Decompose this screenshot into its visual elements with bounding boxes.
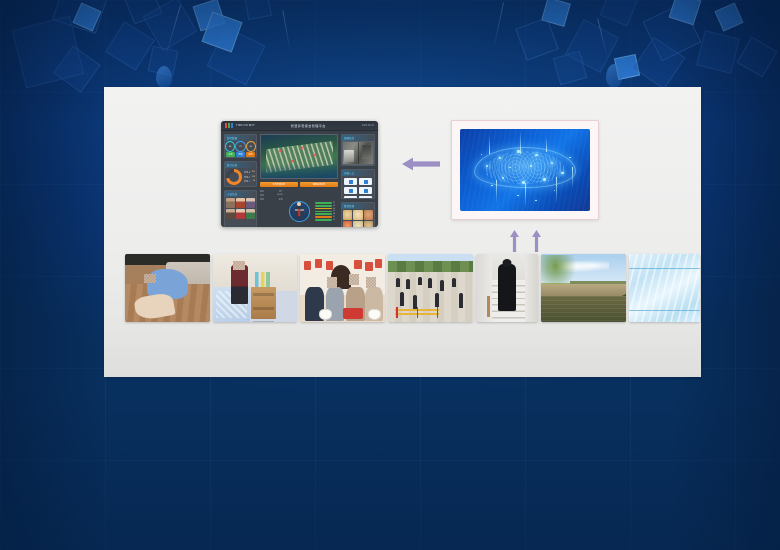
meal-thumbnail-grid bbox=[342, 209, 374, 227]
kpi-card[interactable]: 实时数据 86 72 45 在线 预警 处理 bbox=[224, 134, 257, 158]
metric-value: 64 bbox=[333, 208, 338, 210]
photo-man-on-stairs[interactable] bbox=[476, 254, 539, 322]
donut-legend: 类型 A 352 类型 B 128 类型 C 96 bbox=[244, 171, 255, 182]
person-thumbnail[interactable] bbox=[246, 198, 255, 208]
meal-thumbnail[interactable] bbox=[343, 210, 352, 220]
privacy-mosaic bbox=[233, 261, 245, 271]
profile-value: A-203 bbox=[277, 194, 282, 197]
photo-pedestrian bbox=[428, 278, 432, 288]
profile-row: 姓名 张** bbox=[260, 190, 283, 193]
photo-elderly-in-bedroom[interactable] bbox=[213, 254, 298, 322]
brain-node bbox=[535, 154, 537, 156]
status-chip[interactable]: 预警 bbox=[236, 152, 245, 157]
photo-man-figure bbox=[498, 264, 516, 312]
profile-label: 床位 bbox=[260, 194, 264, 197]
photo-pedestrian bbox=[440, 280, 444, 291]
quick-action-grid bbox=[342, 176, 374, 199]
dashboard-left-column: 实时数据 86 72 45 在线 预警 处理 统计分析 bbox=[224, 134, 257, 227]
settings-icon[interactable] bbox=[359, 196, 372, 199]
avatar[interactable] bbox=[289, 201, 310, 222]
photo-barrier-pole bbox=[417, 307, 419, 318]
photo-wall-poster bbox=[304, 261, 312, 270]
legend-label: 类型 A bbox=[244, 171, 250, 174]
photo-pedestrian bbox=[452, 278, 456, 287]
heart-icon[interactable] bbox=[344, 196, 357, 199]
person-thumbnail[interactable] bbox=[226, 209, 235, 219]
brain-beam bbox=[520, 132, 521, 153]
camera-feed[interactable] bbox=[342, 141, 374, 165]
people-thumbnail-grid bbox=[225, 197, 256, 220]
gauge[interactable]: 45 bbox=[246, 141, 256, 152]
user-icon[interactable] bbox=[344, 178, 357, 185]
meal-thumbnail[interactable] bbox=[353, 221, 362, 227]
privacy-mosaic bbox=[349, 274, 359, 285]
legend-row: 类型 B 128 bbox=[244, 176, 255, 179]
content-panel: TIKD CN WJY 智慧养老综合管理平台 2023-08-16 实时数据 8… bbox=[104, 87, 701, 377]
campus-3d-map[interactable] bbox=[260, 134, 338, 179]
donut-chart[interactable] bbox=[226, 169, 242, 185]
dashboard-title: 智慧养老综合管理平台 bbox=[258, 123, 359, 128]
meal-thumbnail[interactable] bbox=[343, 221, 352, 227]
profile-value: 张** bbox=[279, 190, 283, 193]
status-chip-row: 在线 预警 处理 bbox=[225, 152, 256, 158]
privacy-mosaic bbox=[327, 277, 337, 288]
map-pin[interactable] bbox=[279, 150, 281, 152]
meal-thumbnail[interactable] bbox=[353, 210, 362, 220]
photo-group-activity[interactable] bbox=[300, 254, 385, 322]
photo-person bbox=[231, 265, 248, 304]
profile-avatar-wrap bbox=[285, 190, 314, 227]
profile-row: 状态 正常 bbox=[260, 198, 283, 201]
brain-node bbox=[535, 200, 537, 202]
metric-bar: 88 bbox=[315, 213, 338, 215]
dashboard-body: 实时数据 86 72 45 在线 预警 处理 统计分析 bbox=[221, 131, 378, 227]
photo-wall-poster bbox=[354, 260, 362, 269]
person-thumbnail[interactable] bbox=[236, 198, 245, 208]
map-pin[interactable] bbox=[291, 160, 293, 162]
brain-beam bbox=[572, 167, 573, 188]
alert-bar[interactable]: 健康监测信息 bbox=[300, 182, 338, 187]
metric-bar-list: 92 78 64 51 88 35 70 bbox=[315, 190, 338, 227]
photo-pedestrian bbox=[435, 293, 439, 307]
legend-label: 类型 B bbox=[244, 176, 250, 179]
metric-value: 88 bbox=[333, 213, 338, 215]
photo-wall-right bbox=[525, 254, 539, 322]
person-thumbnail[interactable] bbox=[236, 209, 245, 219]
privacy-mosaic bbox=[366, 277, 376, 288]
status-chip[interactable]: 在线 bbox=[226, 152, 235, 157]
photo-wall-poster bbox=[315, 259, 323, 268]
photo-wall-poster bbox=[365, 262, 373, 271]
metric-bar: 35 bbox=[315, 216, 338, 218]
legend-value: 352 bbox=[252, 171, 255, 174]
brain-node bbox=[543, 178, 545, 180]
bell-icon[interactable] bbox=[344, 187, 357, 194]
meal-thumbnail[interactable] bbox=[364, 221, 373, 227]
photo-barrier-pole bbox=[437, 307, 439, 318]
legend-row: 类型 C 96 bbox=[244, 180, 255, 183]
person-thumbnail[interactable] bbox=[246, 209, 255, 219]
metric-bar: 64 bbox=[315, 208, 338, 210]
up-arrow-2 bbox=[532, 230, 541, 252]
brain-beam bbox=[556, 177, 557, 205]
photo-barrier-pole bbox=[396, 307, 398, 318]
legend-value: 128 bbox=[252, 176, 255, 179]
map-pin[interactable] bbox=[301, 147, 303, 149]
profile-row: 床位 A-203 bbox=[260, 194, 283, 197]
donut-row: 类型 A 352 类型 B 128 类型 C 96 bbox=[225, 168, 256, 186]
quick-actions-card[interactable]: 功能入口 bbox=[341, 169, 375, 199]
ai-brain-graphic bbox=[460, 129, 590, 211]
photo-pedestrian bbox=[396, 278, 400, 287]
dashboard-header: TIKD CN WJY 智慧养老综合管理平台 2023-08-16 bbox=[221, 121, 378, 131]
brain-beam bbox=[525, 183, 526, 208]
camera-card[interactable]: 视频监控 bbox=[341, 134, 375, 166]
person-thumbnail[interactable] bbox=[226, 198, 235, 208]
photo-horizontal-line bbox=[629, 310, 700, 312]
dashboard-middle-column: 实时告警信息 健康监测信息 姓名 张** 床位 A-203 bbox=[260, 134, 338, 227]
metric-bar: 92 bbox=[315, 202, 338, 204]
photo-pedestrian bbox=[400, 292, 404, 306]
profile-label: 姓名 bbox=[260, 190, 264, 193]
privacy-mosaic bbox=[144, 274, 157, 283]
photo-horizontal-line bbox=[629, 268, 700, 270]
photo-pedestrian bbox=[406, 279, 410, 289]
person-figure-icon bbox=[295, 206, 304, 219]
legend-row: 类型 A 352 bbox=[244, 171, 255, 174]
photo-caregiver-assisting-elderly[interactable] bbox=[125, 254, 210, 322]
profile-value: 正常 bbox=[279, 198, 283, 201]
profile-detail-list: 姓名 张** 床位 A-203 状态 正常 bbox=[260, 190, 283, 227]
brain-beam bbox=[496, 180, 497, 203]
brain-node bbox=[530, 165, 532, 167]
meal-card[interactable]: 餐饮管理 bbox=[341, 202, 375, 227]
people-card[interactable]: 人员信息 bbox=[224, 190, 257, 227]
brain-node bbox=[502, 177, 504, 179]
metric-value: 92 bbox=[333, 202, 338, 204]
metric-bar: 78 bbox=[315, 205, 338, 207]
brain-node bbox=[517, 195, 519, 197]
dashboard-date: 2023-08-16 bbox=[362, 124, 374, 127]
photo-pedestrian bbox=[459, 293, 463, 308]
profile-section: 姓名 张** 床位 A-203 状态 正常 bbox=[260, 190, 338, 227]
gauge[interactable]: 86 bbox=[225, 141, 235, 152]
scenario-photo-strip bbox=[125, 254, 700, 322]
photo-wall-poster bbox=[375, 259, 383, 268]
metric-value: 70 bbox=[333, 219, 338, 221]
logo-icon bbox=[225, 123, 233, 128]
photo-handrail bbox=[487, 296, 490, 316]
gauge[interactable]: 72 bbox=[235, 141, 245, 152]
photo-water bbox=[541, 296, 626, 322]
photo-bottles bbox=[255, 272, 272, 287]
brain-beam bbox=[489, 136, 490, 154]
calendar-icon[interactable] bbox=[359, 187, 372, 194]
ai-brain-card[interactable] bbox=[451, 120, 599, 220]
smart-elderly-care-dashboard[interactable]: TIKD CN WJY 智慧养老综合管理平台 2023-08-16 实时数据 8… bbox=[221, 121, 378, 227]
metric-value: 78 bbox=[333, 205, 338, 207]
photo-abstract-blue-texture[interactable] bbox=[629, 254, 700, 322]
chart-icon[interactable] bbox=[359, 178, 372, 185]
map-pin[interactable] bbox=[314, 154, 316, 156]
metric-value: 35 bbox=[333, 216, 338, 218]
legend-label: 类型 C bbox=[244, 180, 250, 183]
alert-bar-row: 实时告警信息 健康监测信息 bbox=[260, 182, 338, 187]
brain-beam bbox=[546, 137, 547, 152]
donut-card[interactable]: 统计分析 类型 A 352 类型 B 128 bbox=[224, 161, 257, 187]
photo-outdoor-plaza[interactable] bbox=[388, 254, 473, 322]
photo-texture-wisps bbox=[629, 254, 700, 322]
metric-bar: 70 bbox=[315, 219, 338, 221]
metric-value: 51 bbox=[333, 210, 338, 212]
photo-tray bbox=[343, 308, 363, 319]
metric-bar: 51 bbox=[315, 210, 338, 212]
photo-pedestrian bbox=[418, 277, 422, 285]
meal-thumbnail[interactable] bbox=[364, 210, 373, 220]
photo-cabinet bbox=[251, 287, 276, 320]
photo-lakeside-park[interactable] bbox=[541, 254, 626, 322]
up-arrow-1 bbox=[510, 230, 519, 252]
status-chip[interactable]: 处理 bbox=[246, 152, 255, 157]
brain-node bbox=[561, 172, 563, 174]
camera-split-divider bbox=[358, 142, 359, 164]
legend-value: 96 bbox=[253, 180, 255, 183]
alert-bar[interactable]: 实时告警信息 bbox=[260, 182, 298, 187]
gauge-row: 86 72 45 bbox=[225, 141, 256, 152]
dashboard-logo-text: TIKD CN WJY bbox=[236, 124, 255, 127]
profile-label: 状态 bbox=[260, 198, 264, 201]
dashboard-right-column: 视频监控 功能入口 餐饮管理 bbox=[341, 134, 375, 227]
left-arrow bbox=[402, 157, 440, 171]
